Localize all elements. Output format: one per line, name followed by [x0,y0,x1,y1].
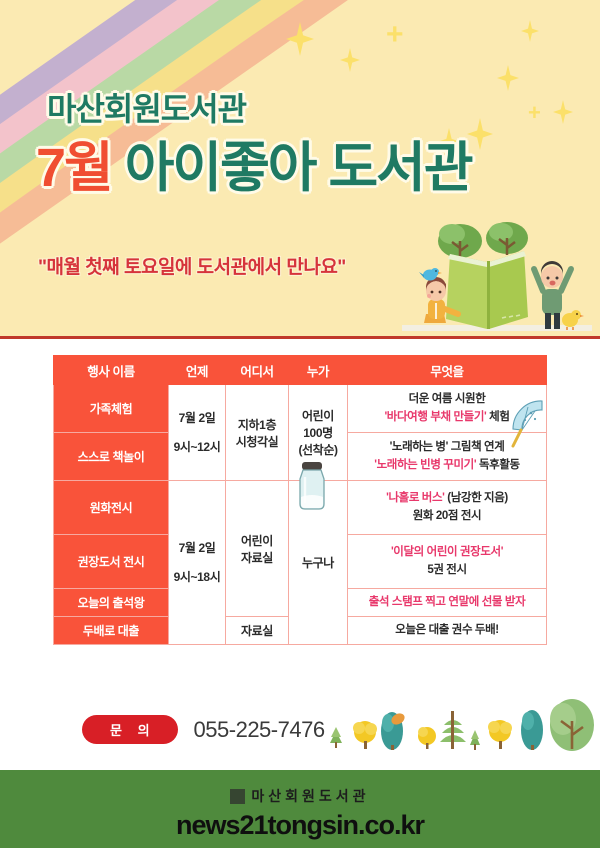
tree-yellow [418,727,436,749]
table-row: 원화전시 7월 2일 9시~18시 어린이 자료실 누구나 [54,481,547,535]
library-name-title: 마산회원도서관 [47,84,246,130]
star-icon [497,65,519,91]
poster-tagline: "매월 첫째 토요일에 도서관에서 만나요" [38,252,346,279]
poster-root: + + 마산회원도서관 7월 아이좋아 도서관 "매월 첫째 토요일에 도서관에… [0,0,600,848]
row-label-self-book-play: 스스로 책놀이 [54,433,169,481]
poster-footer: 마산회원도서관 news21tongsin.co.kr [0,770,600,848]
contact-label-badge: 문 의 [82,715,178,744]
contact-phone-number[interactable]: 055-225-7476 [194,717,325,743]
cell-what-family-experience: 더운 여름 시원한 '바다여행 부채 만들기' 체험 [348,385,547,433]
what-line1: '노래하는 병' 그림책 연계 [348,439,546,457]
table-header-row: 행사 이름 언제 어디서 누가 무엇을 [54,356,547,385]
title-rest: 아이좋아 도서관 [125,138,472,198]
th-where: 어디서 [226,356,289,385]
what-line2: 원화 20점 전시 [348,508,546,526]
cell-where-childrens-room: 어린이 자료실 [226,481,289,617]
poster-header: + + 마산회원도서관 7월 아이좋아 도서관 "매월 첫째 토요일에 도서관에… [0,0,600,336]
cell-what-original-art-exhibit: '나홀로 버스' (남강한 지음) 원화 20점 전시 [348,481,547,535]
what-line1: '나홀로 버스' (남강한 지음) [348,490,546,508]
tree-yellow [353,721,377,749]
poster-main-title: 7월 아이좋아 도서관 [36,140,472,197]
cell-when-allday: 7월 2일 9시~18시 [169,481,226,645]
treeline-illustration [320,697,600,757]
poster-body: 행사 이름 언제 어디서 누가 무엇을 가족체험 7월 2일 [0,336,600,773]
row-label-family-experience: 가족체험 [54,385,169,433]
contact-block: 문 의 055-225-7476 [82,715,325,744]
tree-large-green [550,699,594,751]
where-line2: 자료실 [226,549,288,566]
th-when: 언제 [169,356,226,385]
what-tail: 독후활동 [476,459,520,471]
what-highlight: '나홀로 버스' [386,492,444,504]
what-line1: 더운 여름 시원한 [348,391,546,409]
table-row: 가족체험 7월 2일 9시~12시 지하1층 시청각실 어린이 [54,385,547,433]
cell-what-self-book-play: '노래하는 병' 그림책 연계 '노래하는 빈병 꾸미기' 독후활동 [348,433,547,481]
what-line1: 출석 스탬프 찍고 연말에 선물 받자 [348,594,546,612]
star-icon [553,100,573,124]
library-logo-icon [230,789,245,804]
cell-where-av-room: 지하1층 시청각실 [226,385,289,481]
row-label-recommended-books: 권장도서 전시 [54,535,169,589]
schedule-table: 행사 이름 언제 어디서 누가 무엇을 가족체험 7월 2일 [53,355,547,645]
star-icon [521,20,539,42]
where-line1: 지하1층 [226,416,288,433]
when-date: 7월 2일 [169,404,225,433]
cell-where-main-room: 자료실 [226,617,289,645]
tree-teal-tall [521,710,543,750]
when-time: 9시~18시 [169,563,225,592]
title-month: 7월 [36,138,112,198]
footer-site-url[interactable]: news21tongsin.co.kr [0,810,600,841]
cell-what-recommended-books: '이달의 어린이 권장도서' 5권 전시 [348,535,547,589]
th-event-name: 행사 이름 [54,356,169,385]
who-line2: 100명 [289,424,347,441]
what-line2: 5권 전시 [348,562,546,580]
tree-teal-tall [381,711,407,750]
star-icon [286,22,314,56]
tree-small-green [330,727,342,748]
who-line3: (선착순) [289,441,347,458]
tree-pine [440,711,466,749]
tree-small-green [470,730,480,750]
where-line1: 어린이 [226,532,288,549]
cell-who-children: 어린이 100명 (선착순) [289,385,348,481]
cell-who-anyone: 누구나 [289,481,348,645]
cell-when-morning: 7월 2일 9시~12시 [169,385,226,481]
what-highlight: '바다여행 부채 만들기' [384,411,486,423]
row-label-double-loan: 두배로 대출 [54,617,169,645]
what-tail: (남강한 지음) [445,492,508,504]
what-line1: '이달의 어린이 권장도서' [348,544,546,562]
what-line2: '바다여행 부채 만들기' 체험 [348,409,546,427]
th-what: 무엇을 [348,356,547,385]
tree-yellow [488,720,512,749]
what-line1: 오늘은 대출 권수 두배! [348,622,546,640]
footer-library-name: 마산회원도서관 [230,786,369,806]
sparkle-plus-icon: + [528,102,541,124]
footer-library-label: 마산회원도서관 [251,786,369,806]
schedule-table-container: 행사 이름 언제 어디서 누가 무엇을 가족체험 7월 2일 [53,355,547,645]
sparkle-plus-icon: + [386,20,404,50]
when-date: 7월 2일 [169,534,225,563]
tree-on-book [486,222,528,255]
tree-on-book [438,224,482,259]
who-line1: 어린이 [289,407,347,424]
cell-what-double-loan: 오늘은 대출 권수 두배! [348,617,547,645]
row-label-attendance-king: 오늘의 출석왕 [54,589,169,617]
what-highlight: '이달의 어린이 권장도서' [391,546,503,558]
what-tail: 체험 [486,411,509,423]
what-line2: '노래하는 빈병 꾸미기' 독후활동 [348,457,546,475]
children-with-book-illustration [402,221,592,336]
th-who: 누가 [289,356,348,385]
where-line2: 시청각실 [226,433,288,450]
star-icon [340,48,360,72]
cell-what-attendance-king: 출석 스탬프 찍고 연말에 선물 받자 [348,589,547,617]
when-time: 9시~12시 [169,433,225,462]
what-highlight: '노래하는 빈병 꾸미기' [374,459,476,471]
row-label-original-art-exhibit: 원화전시 [54,481,169,535]
